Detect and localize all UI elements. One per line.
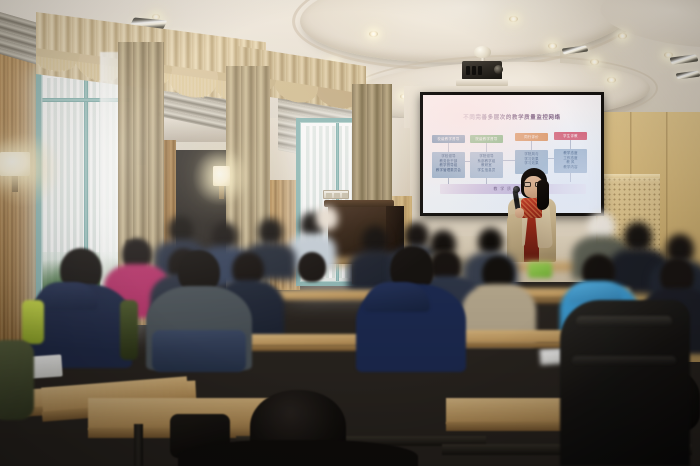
high-vis-strap [22, 300, 44, 344]
sconce-arm-left [12, 176, 18, 192]
outlet-socket[interactable] [342, 193, 348, 198]
projector-mount-ball [474, 46, 491, 58]
audience-head [316, 206, 338, 230]
downlight-icon [548, 43, 557, 49]
audience-head [298, 252, 326, 282]
projector-vent [466, 66, 470, 75]
green-bag [528, 262, 552, 278]
slide-content: 不同完善多层次的教学质量监控网络 校级教学督导 院级教学督导 同行评价 学生评教… [423, 95, 601, 213]
downlight-icon [607, 77, 616, 83]
slide-title: 不同完善多层次的教学质量监控网络 [441, 113, 583, 121]
speaker-hair-side [537, 180, 549, 210]
slide-connector [486, 143, 487, 152]
outlet-socket[interactable] [334, 193, 340, 198]
jacket-hood [364, 282, 430, 312]
audience-lower-body [152, 330, 246, 372]
downlight-icon [590, 59, 599, 65]
projector-vent [478, 66, 482, 75]
audience-head [168, 216, 193, 243]
slide-connector [503, 160, 515, 161]
downlight-icon [618, 33, 627, 39]
slide-connector [570, 173, 571, 182]
olive-jacket-edge [120, 300, 138, 360]
desk-leg [134, 424, 143, 466]
audience-head [258, 218, 283, 245]
wall-outlet-panel[interactable] [323, 190, 349, 199]
slide-connector [570, 140, 571, 149]
slide-header-box: 学生评教 [554, 132, 587, 140]
wall-sconce-left [0, 152, 30, 176]
outlet-socket[interactable] [326, 193, 332, 198]
acoustic-panel-glow [598, 174, 660, 182]
sconce-arm-right [219, 186, 224, 199]
podium-top [324, 200, 394, 207]
jacket-seam [572, 356, 676, 365]
audience-head [404, 222, 429, 249]
wall-sconce-right [213, 166, 230, 186]
slide-header-box: 同行评价 [515, 133, 548, 141]
jacket-seam [576, 316, 672, 326]
downlight-icon [369, 31, 378, 37]
slide-content-box: 学校领导 教务处干部 教学督导组 教学管理委员会 [432, 152, 465, 178]
downlight-icon [509, 16, 518, 22]
slide-connector [448, 143, 449, 152]
lecture-hall-photograph: 不同完善多层次的教学质量监控网络 校级教学督导 院级教学督导 同行评价 学生评教… [0, 0, 700, 466]
slide-header-box: 校级教学督导 [432, 135, 465, 143]
projector-lens [494, 65, 503, 74]
olive-jacket-left [0, 340, 34, 420]
audience-head [478, 228, 503, 255]
slide-content-box: 教学态度 工作态度 教 风 教学内容 [554, 149, 587, 173]
projector-ceiling-plate [456, 79, 508, 86]
projection-screen: 不同完善多层次的教学质量监控网络 校级教学督导 院级教学督导 同行评价 学生评教… [423, 95, 601, 213]
jacket-hood [36, 282, 98, 310]
audience-body-foreground [178, 440, 418, 466]
slide-header-box: 院级教学督导 [470, 135, 503, 143]
slide-connector [531, 141, 532, 150]
projector-vent [472, 66, 476, 75]
speaker-hand [515, 208, 524, 218]
slide-content-box: 学院领导 系部教学组 教研室 学生信息员 [470, 152, 503, 178]
